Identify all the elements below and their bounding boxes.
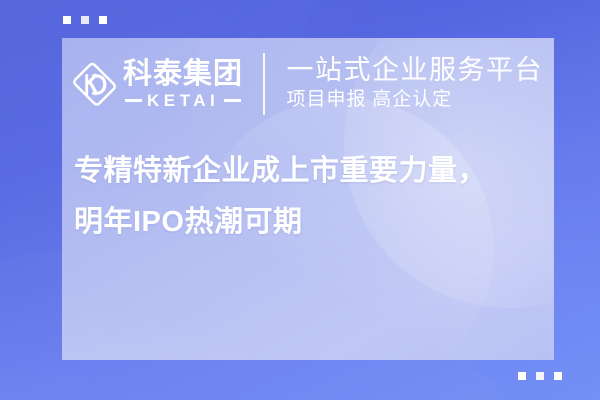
rule-right-icon: [224, 99, 241, 102]
brand-divider: [263, 53, 265, 115]
tagline-primary: 一站式企业服务平台: [287, 55, 544, 86]
brand-logo-text: 科泰集团 KETAI: [123, 59, 243, 109]
decorative-dots-top-left: [63, 16, 107, 24]
brand-name-cn: 科泰集团: [123, 59, 243, 89]
square-dot-icon: [554, 372, 562, 380]
square-dot-icon: [518, 372, 526, 380]
page-title-line-1: 专精特新企业成上市重要力量，: [74, 146, 544, 197]
decorative-dots-bottom-right: [518, 372, 562, 380]
content-card: 科泰集团 KETAI 一站式企业服务平台 项目申报 高企认定 专精特新企业成上市…: [62, 38, 554, 360]
square-dot-icon: [536, 372, 544, 380]
brand-header: 科泰集团 KETAI 一站式企业服务平台 项目申报 高企认定: [62, 38, 554, 130]
ketai-diamond-kd-logo-icon: [71, 61, 118, 108]
brand-name-latin: KETAI: [147, 92, 219, 109]
page-title-line-2: 明年IPO热潮可期: [74, 197, 544, 248]
tagline: 一站式企业服务平台 项目申报 高企认定: [287, 55, 544, 113]
square-dot-icon: [81, 16, 89, 24]
page-title: 专精特新企业成上市重要力量， 明年IPO热潮可期: [74, 146, 544, 248]
square-dot-icon: [99, 16, 107, 24]
brand-logo[interactable]: 科泰集团 KETAI: [71, 59, 243, 109]
tagline-secondary: 项目申报 高企认定: [287, 89, 544, 111]
poster-banner: 科泰集团 KETAI 一站式企业服务平台 项目申报 高企认定 专精特新企业成上市…: [0, 0, 600, 400]
rule-left-icon: [125, 99, 142, 102]
square-dot-icon: [63, 16, 71, 24]
brand-name-latin-row: KETAI: [123, 92, 243, 109]
